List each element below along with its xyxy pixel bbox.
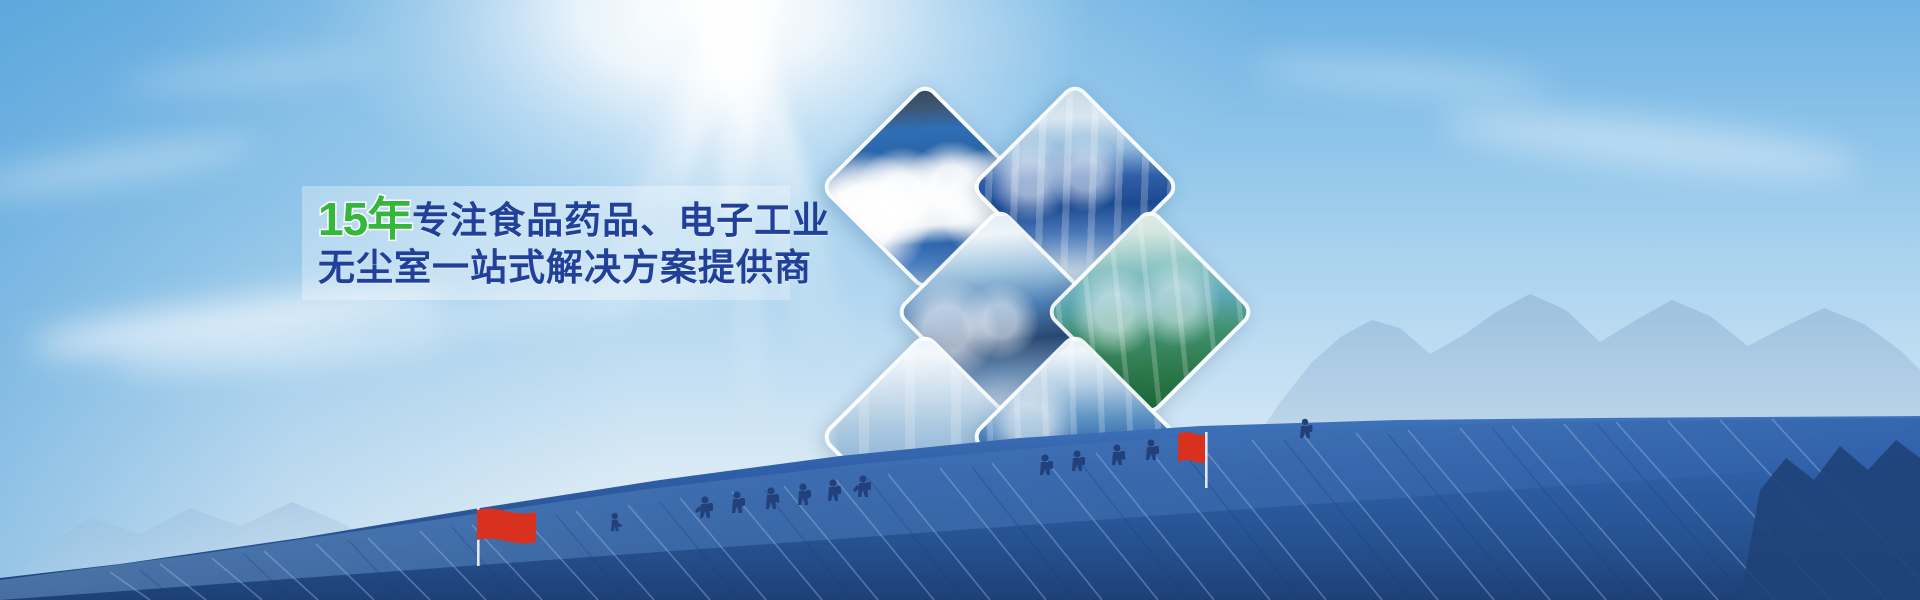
- headline-line1-rest: 专注食品药品、电子工业: [412, 200, 830, 241]
- years-badge: 15年: [318, 193, 412, 245]
- hero-banner: 15年专注食品药品、电子工业 无尘室一站式解决方案提供商: [0, 0, 1920, 600]
- headline-block: 15年专注食品药品、电子工业 无尘室一站式解决方案提供商: [318, 196, 798, 287]
- headline-line2: 无尘室一站式解决方案提供商: [318, 249, 798, 287]
- foreground-ridge-scene: [0, 340, 1920, 600]
